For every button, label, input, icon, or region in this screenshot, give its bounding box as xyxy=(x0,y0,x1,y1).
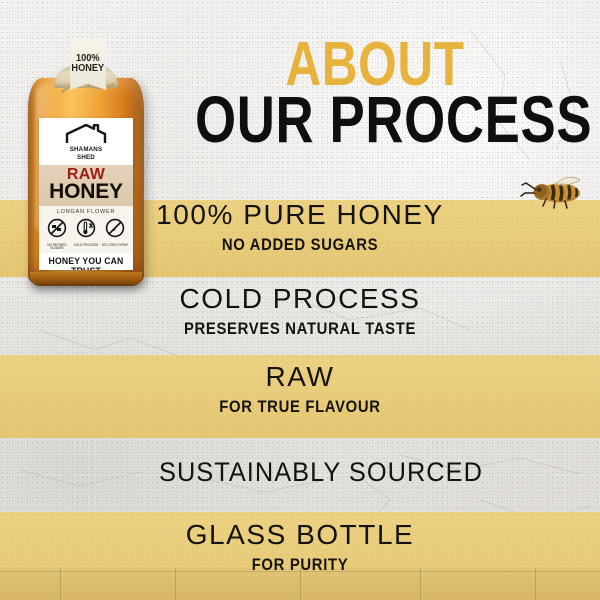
label-icon-cold-process: COLD PROCESS xyxy=(72,218,100,248)
feature-title: GLASS BOTTLE xyxy=(150,521,450,549)
bottle-base xyxy=(30,272,142,286)
label-brand-block: SHAMANS SHED xyxy=(39,118,133,165)
label-brand-line2: SHED xyxy=(41,154,130,161)
hang-tag: 100% HONEY xyxy=(70,38,106,90)
label-icon-caption: NO CORN SYRUP xyxy=(102,244,129,248)
feature-title: COLD PROCESS xyxy=(150,285,450,313)
label-icon-no-refined-sugars: NO REFINED SUGARS xyxy=(43,218,71,251)
title-line-process: OUR PROCESS xyxy=(195,91,555,148)
honeybee-icon xyxy=(520,172,586,212)
page-title: ABOUT OUR PROCESS xyxy=(150,38,600,148)
label-tagline: HONEY YOU CAN TRUST xyxy=(41,253,131,270)
feature-subtitle: FOR PURITY xyxy=(165,556,435,575)
label-icon-row: NO REFINED SUGARS COLD PROCESS xyxy=(39,217,133,253)
label-product-block: RAW HONEY xyxy=(39,165,133,206)
label-icon-no-corn-syrup: NO CORN SYRUP xyxy=(101,218,129,248)
feature-row-5: GLASS BOTTLE FOR PURITY xyxy=(150,521,450,575)
poster-canvas: ABOUT OUR PROCESS 100% PURE HONEY NO ADD… xyxy=(0,0,600,600)
shed-logo-icon xyxy=(63,123,109,145)
label-honey-word: HONEY xyxy=(39,182,133,202)
honey-bottle-product-image: 100% HONEY SHAMANS SHED RAW HONEY LONGAN… xyxy=(8,20,164,288)
hang-tag-line2: HONEY xyxy=(72,64,105,75)
label-icon-caption: NO REFINED SUGARS xyxy=(43,244,70,251)
feature-title: RAW xyxy=(150,363,450,391)
feature-title: 100% PURE HONEY xyxy=(150,201,450,229)
feature-row-1: 100% PURE HONEY NO ADDED SUGARS xyxy=(150,201,450,255)
feature-row-4: SUSTAINABLY SOURCED xyxy=(150,459,450,486)
label-brand-line1: SHAMANS xyxy=(41,146,130,153)
bottle-label: SHAMANS SHED RAW HONEY LONGAN FLOWER NO … xyxy=(39,118,133,270)
feature-subtitle: PRESERVES NATURAL TASTE xyxy=(165,320,435,339)
feature-subtitle: FOR TRUE FLAVOUR xyxy=(165,398,435,417)
feature-row-2: COLD PROCESS PRESERVES NATURAL TASTE xyxy=(150,285,450,339)
label-icon-caption: COLD PROCESS xyxy=(73,244,100,248)
feature-row-3: RAW FOR TRUE FLAVOUR xyxy=(150,363,450,417)
feature-title: SUSTAINABLY SOURCED xyxy=(159,459,441,486)
label-variety: LONGAN FLOWER xyxy=(39,206,133,217)
feature-subtitle: NO ADDED SUGARS xyxy=(165,236,435,255)
